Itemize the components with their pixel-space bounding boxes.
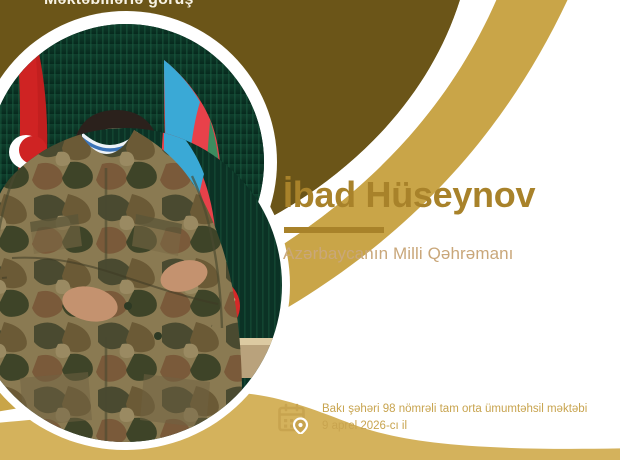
event-date: 9 aprel 2026-cı il xyxy=(322,419,587,434)
event-details: Bakı şəhəri 98 nömrəli tam orta ümumtəhs… xyxy=(277,402,587,434)
calendar-location-icon xyxy=(277,402,309,434)
banner-title: Məktəblilərlə görüş xyxy=(44,0,194,9)
event-details-lines: Bakı şəhəri 98 nömrəli tam orta ümumtəhs… xyxy=(322,402,587,434)
hero-text-block: İbad Hüseynov Azərbaycanın Milli Qəhrəma… xyxy=(283,176,613,264)
title-divider-rule xyxy=(284,227,384,233)
page-title: İbad Hüseynov xyxy=(283,176,613,214)
event-venue: Bakı şəhəri 98 nömrəli tam orta ümumtəhs… xyxy=(322,402,587,417)
event-announcement-poster: Məktəblilərlə görüş xyxy=(0,0,620,460)
page-subtitle: Azərbaycanın Milli Qəhrəmanı xyxy=(283,244,613,264)
